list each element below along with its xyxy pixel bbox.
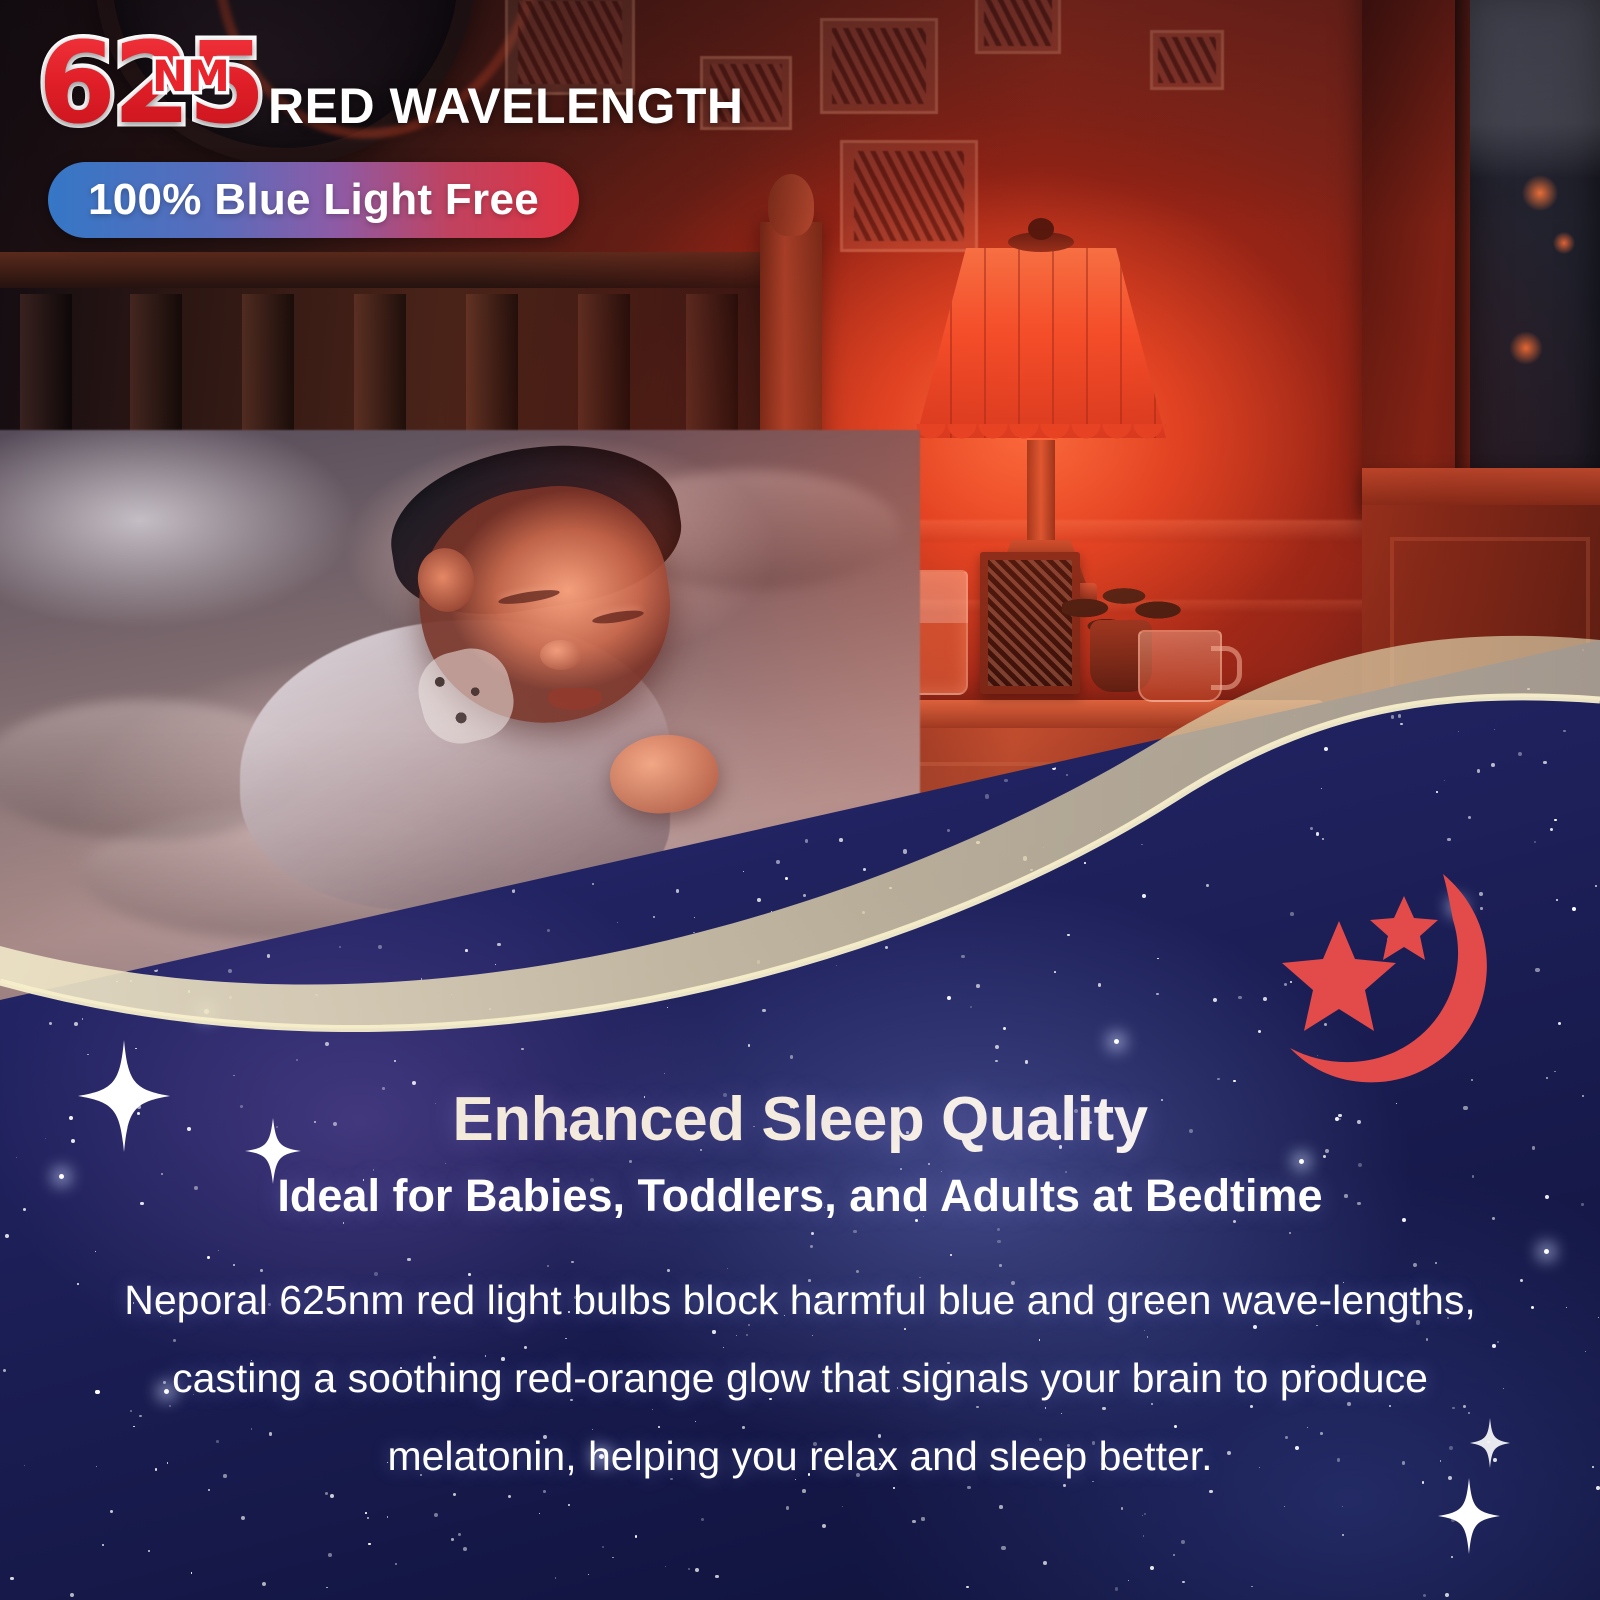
copy-subheading: Ideal for Babies, Toddlers, and Adults a… bbox=[0, 1169, 1600, 1223]
product-feature-banner: 625 625 NM NM RED WAVELENGTH 100% Blue L… bbox=[0, 0, 1600, 1600]
marketing-copy: Enhanced Sleep Quality Ideal for Babies,… bbox=[0, 1085, 1600, 1495]
child-mouth bbox=[548, 688, 602, 710]
blue-light-free-label: 100% Blue Light Free bbox=[88, 175, 539, 225]
star-large-icon bbox=[1282, 921, 1396, 1031]
blue-light-free-badge: 100% Blue Light Free bbox=[48, 162, 579, 238]
wavelength-unit: NM bbox=[152, 56, 229, 99]
glass-mug bbox=[1138, 630, 1222, 702]
star-small-icon bbox=[1370, 896, 1438, 960]
header-overlay: 625 625 NM NM RED WAVELENGTH 100% Blue L… bbox=[0, 0, 1600, 260]
wavelength-value: 625 bbox=[38, 28, 263, 140]
child-nose bbox=[540, 640, 582, 670]
header-title: RED WAVELENGTH bbox=[268, 79, 744, 133]
window-sill bbox=[1362, 468, 1600, 508]
lamp-neck bbox=[1027, 440, 1055, 544]
copy-body: Neporal 625nm red light bulbs block harm… bbox=[90, 1261, 1510, 1495]
moon-and-stars-illustration bbox=[1262, 856, 1502, 1096]
copy-heading: Enhanced Sleep Quality bbox=[0, 1085, 1600, 1155]
